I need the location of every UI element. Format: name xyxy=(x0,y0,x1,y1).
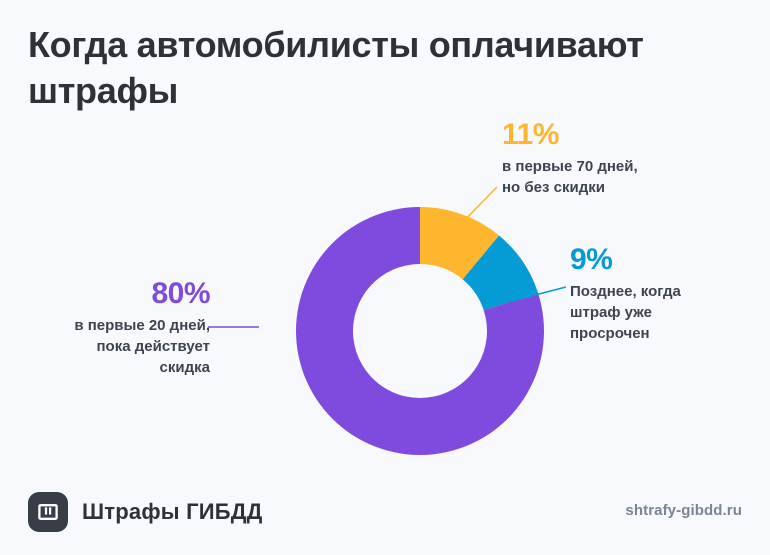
callout-orange: 11% в первые 70 дней, но без скидки xyxy=(502,118,702,198)
brand-name: Штрафы ГИБДД xyxy=(82,499,263,525)
callout-cyan-percent: 9% xyxy=(570,243,760,277)
infographic-canvas: Когда автомобилисты оплачивают штрафы 11… xyxy=(0,0,770,555)
donut-chart-svg xyxy=(296,207,544,455)
sh-letter-icon xyxy=(37,501,59,523)
donut-chart xyxy=(296,207,544,455)
callout-purple-description: в первые 20 дней, пока действует скидка xyxy=(10,315,210,378)
page-title: Когда автомобилисты оплачивают штрафы xyxy=(28,22,740,114)
callout-purple-percent: 80% xyxy=(10,277,210,311)
callout-orange-percent: 11% xyxy=(502,118,702,152)
callout-orange-description: в первые 70 дней, но без скидки xyxy=(502,156,702,198)
callout-purple: 80% в первые 20 дней, пока действует ски… xyxy=(10,277,210,378)
footer-brand: Штрафы ГИБДД xyxy=(28,492,263,532)
callout-cyan: 9% Позднее, когда штраф уже просрочен xyxy=(570,243,760,344)
callout-cyan-description: Позднее, когда штраф уже просрочен xyxy=(570,281,760,344)
brand-logo-icon xyxy=(28,492,68,532)
footer-url: shtrafy-gibdd.ru xyxy=(625,502,742,519)
